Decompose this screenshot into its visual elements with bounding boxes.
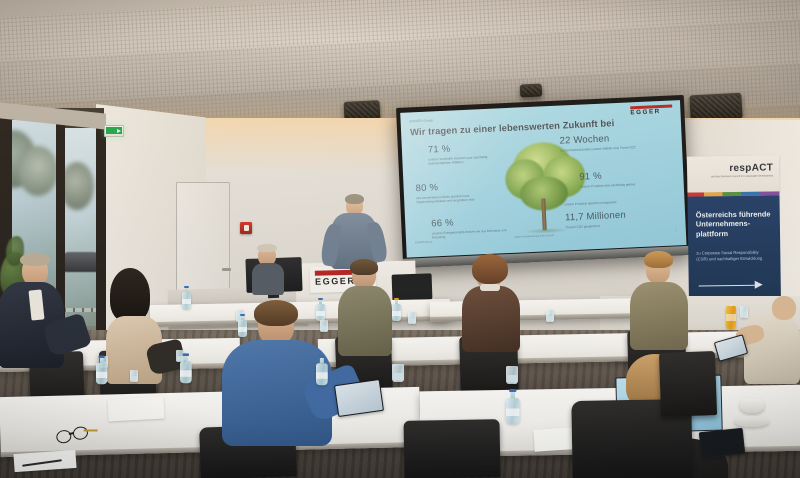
window-mullion [96, 120, 106, 356]
ceiling-speaker-icon [520, 83, 543, 97]
coffee-cup[interactable] [740, 399, 764, 413]
banner-header: respACT austrian business council for su… [687, 155, 779, 192]
arrow-right-icon [699, 280, 763, 291]
drinking-glass[interactable] [740, 306, 748, 318]
drinking-glass[interactable] [176, 350, 184, 362]
drinking-glass[interactable] [546, 310, 554, 322]
drinking-glass[interactable] [130, 370, 138, 382]
slide-surface: EGGER Group Wir tragen zu einer lebenswe… [400, 100, 686, 258]
fire-alarm-call-point[interactable] [240, 222, 252, 234]
tablet[interactable] [334, 379, 384, 417]
drinking-glass[interactable] [392, 364, 404, 382]
door-handle-icon[interactable] [222, 268, 231, 271]
confidence-monitor [392, 273, 433, 300]
drinking-glass[interactable] [408, 312, 416, 324]
saucer [734, 416, 769, 427]
banner-paragraph: zu Corporate Social Responsibility (CSR)… [696, 249, 770, 261]
chair [404, 419, 501, 478]
drinking-glass[interactable] [506, 366, 518, 384]
egger-podium-logo-text: EGGER [315, 277, 356, 287]
respact-logo: respACT [729, 162, 773, 174]
emergency-exit-sign [104, 125, 124, 137]
drinking-glass[interactable] [320, 320, 328, 332]
tablet[interactable] [699, 428, 745, 458]
juice-bottle[interactable] [726, 306, 736, 329]
conference-room-photo: EGGER Group Wir tragen zu einer lebenswe… [0, 0, 800, 478]
respact-rollup-banner: respACT austrian business council for su… [687, 155, 781, 308]
chair [659, 351, 717, 417]
projection-screen: EGGER Group Wir tragen zu einer lebenswe… [396, 95, 691, 268]
banner-headline: Österreichs führende Unternehmens-plattf… [696, 209, 774, 238]
notepad[interactable] [107, 397, 164, 422]
respact-logo-subtitle: austrian business council for sustainabl… [711, 174, 773, 178]
banner-body: Österreichs führende Unternehmens-plattf… [688, 195, 782, 308]
